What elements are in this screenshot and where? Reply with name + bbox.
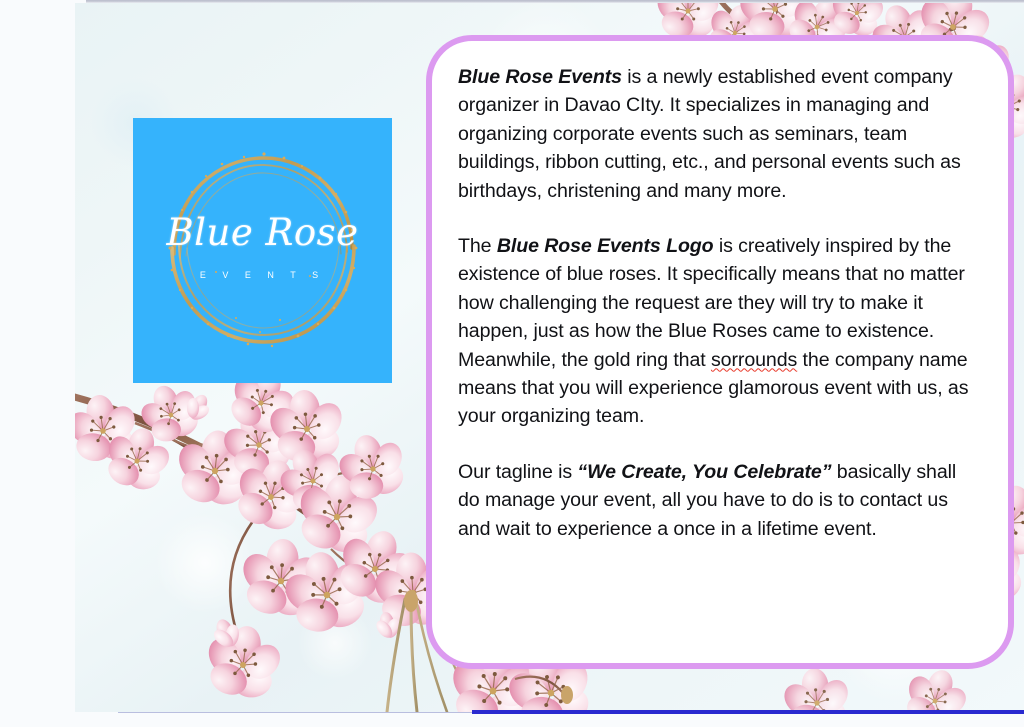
paragraph-logo-prefix: The — [458, 235, 497, 257]
paragraph-tagline: Our tagline is “We Create, You Celebrate… — [458, 458, 982, 543]
bottom-divider-rule — [472, 710, 1024, 714]
company-name-bold: Blue Rose Events — [458, 66, 622, 88]
logo-name-bold: Blue Rose Events Logo — [497, 235, 714, 257]
paragraph-intro: Blue Rose Events is a newly established … — [458, 63, 982, 205]
logo-subtitle-text: E V E N T S — [133, 270, 392, 280]
logo-script-text: Blue Rose — [133, 214, 392, 251]
misspelled-word: sorrounds — [711, 349, 797, 371]
tagline-text: “We Create, You Celebrate” — [577, 461, 831, 483]
blue-rose-events-logo-tile: Blue Rose E V E N T S — [133, 118, 392, 383]
screenshot-canvas: Blue Rose E V E N T S Blue Rose Events i… — [0, 0, 1024, 727]
description-text-card: Blue Rose Events is a newly established … — [426, 35, 1014, 669]
slide-body: Blue Rose E V E N T S Blue Rose Events i… — [75, 3, 1024, 712]
paragraph-logo-meaning: The Blue Rose Events Logo is creatively … — [458, 232, 982, 431]
paragraph-tagline-prefix: Our tagline is — [458, 461, 577, 483]
bottom-secondary-rule — [118, 712, 474, 713]
